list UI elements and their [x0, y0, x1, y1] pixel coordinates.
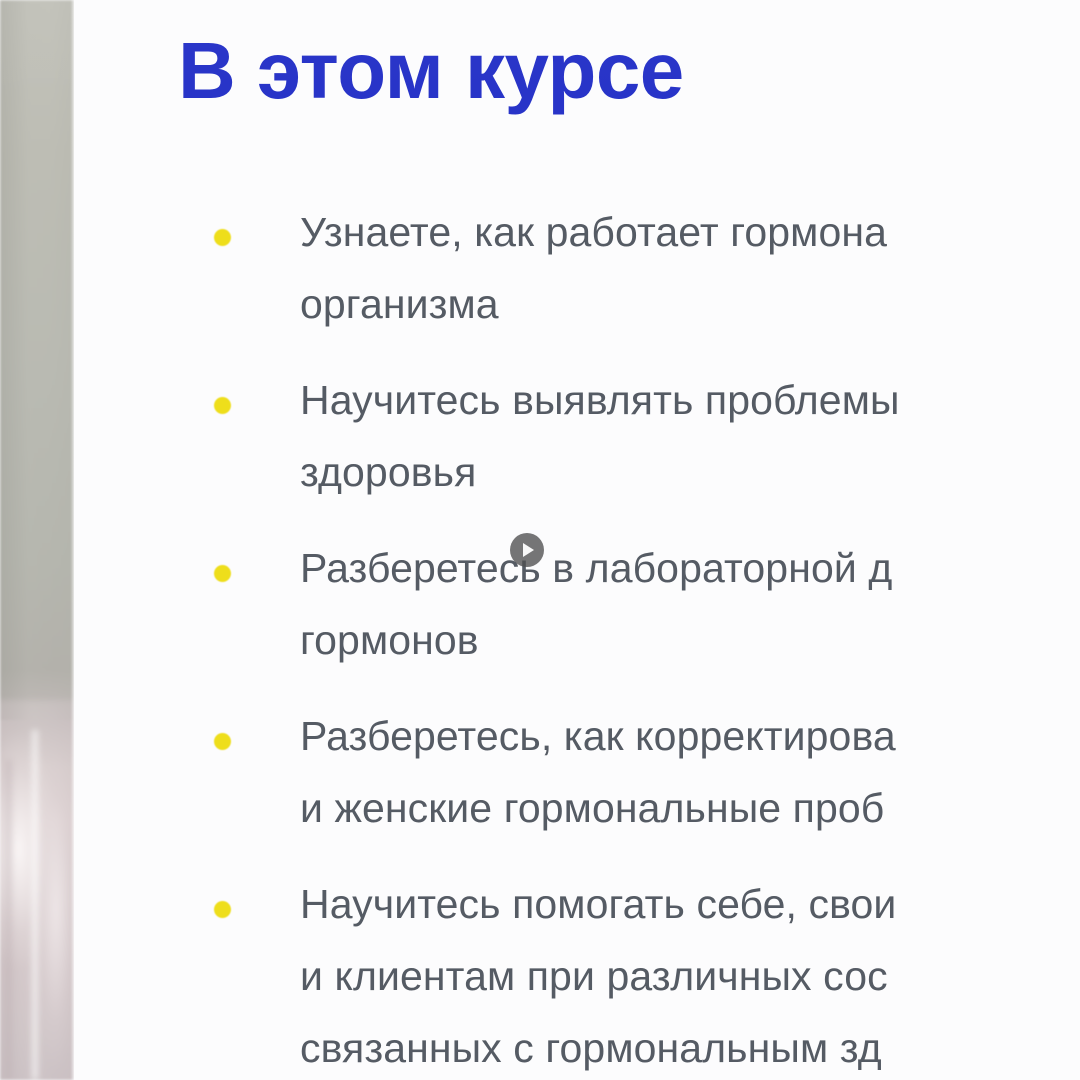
list-item-line: Разберетесь, как корректирова: [300, 700, 1080, 772]
bullet-dot-icon: [214, 229, 231, 246]
list-item-line: и женские гормональные проб: [300, 772, 1080, 844]
course-benefits-list: Узнаете, как работает гормона организма …: [74, 196, 1080, 1080]
list-item: Разберетесь, как корректирова и женские …: [74, 700, 1080, 844]
list-item-line: Научитесь помогать себе, свои: [300, 868, 1080, 940]
list-item-line: здоровья: [300, 436, 1080, 508]
fabric-shadow: [4, 760, 13, 1080]
list-item: Разберетесь в лабораторной д гормонов: [74, 532, 1080, 676]
list-item: Узнаете, как работает гормона организма: [74, 196, 1080, 340]
list-item: Научитесь помогать себе, свои и клиентам…: [74, 868, 1080, 1080]
bullet-dot-icon: [214, 397, 231, 414]
list-item-line: связанных с гормональным зд: [300, 1012, 1080, 1080]
list-item-line: Разберетесь в лабораторной д: [300, 532, 1080, 604]
list-item-line: Научитесь выявлять проблемы: [300, 364, 1080, 436]
list-item-line: Узнаете, как работает гормона: [300, 196, 1080, 268]
list-item: Научитесь выявлять проблемы здоровья: [74, 364, 1080, 508]
bullet-dot-icon: [214, 733, 231, 750]
list-item-line: и клиентам при различных сос: [300, 940, 1080, 1012]
video-slide-screen: В этом курсе Узнаете, как работает гормо…: [0, 0, 1080, 1080]
play-icon[interactable]: [510, 533, 544, 567]
wall-shading: [0, 0, 74, 720]
list-item-line: организма: [300, 268, 1080, 340]
bullet-dot-icon: [214, 565, 231, 582]
fabric-highlight: [30, 730, 40, 1080]
play-triangle-icon: [523, 543, 534, 557]
slide-panel: В этом курсе Узнаете, как работает гормо…: [74, 0, 1080, 1080]
list-item-line: гормонов: [300, 604, 1080, 676]
bullet-dot-icon: [214, 901, 231, 918]
video-preview-strip[interactable]: [0, 0, 74, 1080]
page-title: В этом курсе: [178, 24, 684, 118]
